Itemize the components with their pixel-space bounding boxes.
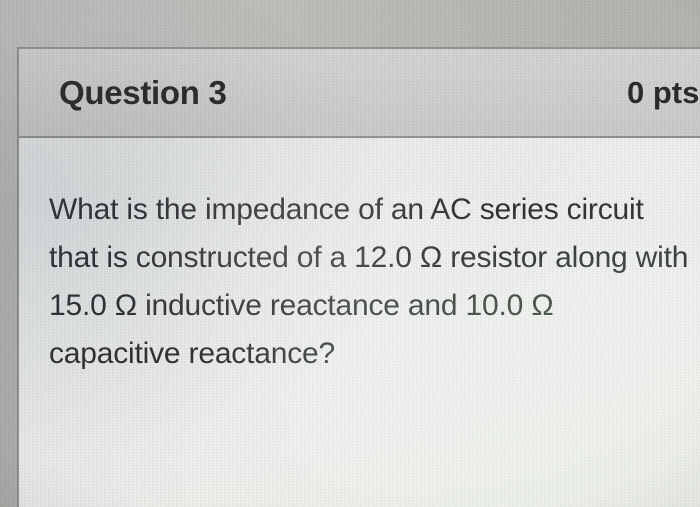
photographed-screen: Question 3 0 pts What is the impedance o…	[0, 0, 700, 507]
question-card-header: Question 3 0 pts	[19, 49, 700, 138]
question-card: Question 3 0 pts What is the impedance o…	[17, 47, 700, 507]
question-card-body: What is the impedance of an AC series ci…	[19, 138, 700, 507]
question-text: What is the impedance of an AC series ci…	[49, 186, 689, 378]
question-title: Question 3	[59, 74, 227, 112]
points-label: 0 pts	[627, 75, 699, 111]
